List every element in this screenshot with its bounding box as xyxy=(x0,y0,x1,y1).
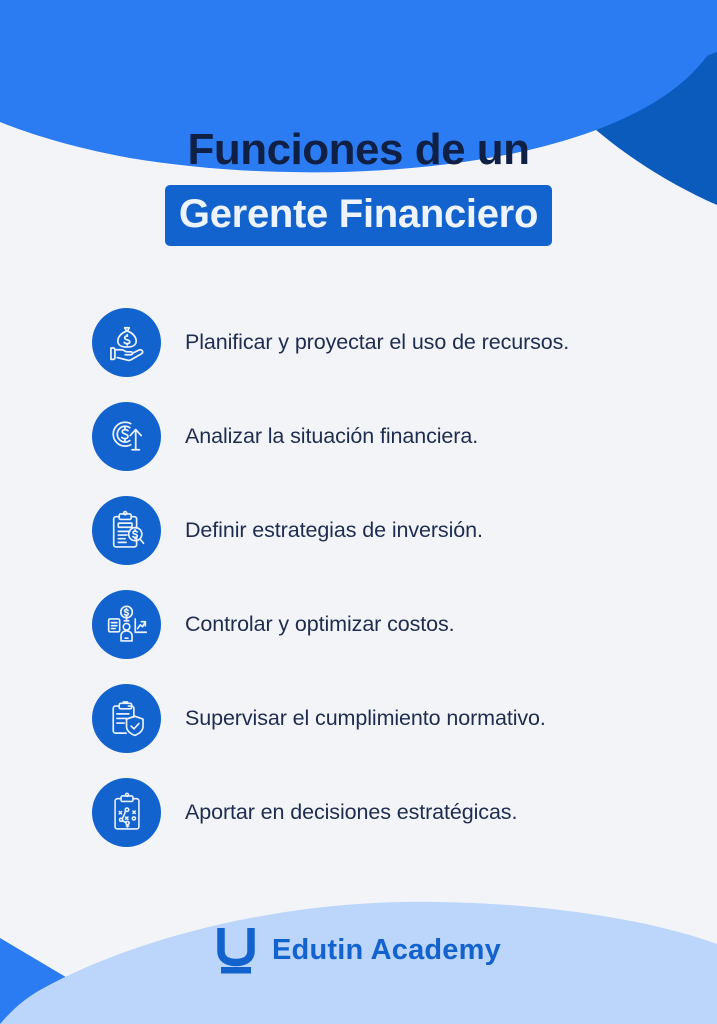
list-item: Definir estrategias de inversión. xyxy=(92,495,672,565)
list-item: Aportar en decisiones estratégicas. xyxy=(92,777,672,847)
list-item: Analizar la situación financiera. xyxy=(92,401,672,471)
clipboard-shield-check-icon xyxy=(92,684,161,753)
footer-brand: Edutin Academy xyxy=(0,925,717,975)
clipboard-strategy-board-icon xyxy=(92,778,161,847)
page-title-highlight: Gerente Financiero xyxy=(165,185,552,246)
list-item: Planificar y proyectar el uso de recurso… xyxy=(92,307,672,377)
list-item-label: Planificar y proyectar el uso de recurso… xyxy=(185,329,569,356)
list-item-label: Definir estrategias de inversión. xyxy=(185,517,483,544)
page-title-highlight-wrap: Gerente Financiero xyxy=(0,185,717,246)
person-document-chart-icon xyxy=(92,590,161,659)
list-item-label: Aportar en decisiones estratégicas. xyxy=(185,799,517,826)
list-item-label: Analizar la situación financiera. xyxy=(185,423,478,450)
hand-holding-money-bag-icon xyxy=(92,308,161,377)
poster: Funciones de un Gerente Financiero Plani… xyxy=(0,0,717,1024)
list-item: Supervisar el cumplimiento normativo. xyxy=(92,683,672,753)
page-title-line1: Funciones de un xyxy=(0,126,717,174)
list-item-label: Supervisar el cumplimiento normativo. xyxy=(185,705,546,732)
top-bright-band xyxy=(0,0,717,117)
list-item-label: Controlar y optimizar costos. xyxy=(185,611,455,638)
list-item: Controlar y optimizar costos. xyxy=(92,589,672,659)
brand-name: Edutin Academy xyxy=(272,934,501,967)
edutin-u-logo-icon xyxy=(216,925,256,975)
header: Funciones de un Gerente Financiero xyxy=(0,126,717,246)
functions-list: Planificar y proyectar el uso de recurso… xyxy=(92,307,672,847)
dollar-coin-up-arrow-icon xyxy=(92,402,161,471)
clipboard-magnifier-dollar-icon xyxy=(92,496,161,565)
